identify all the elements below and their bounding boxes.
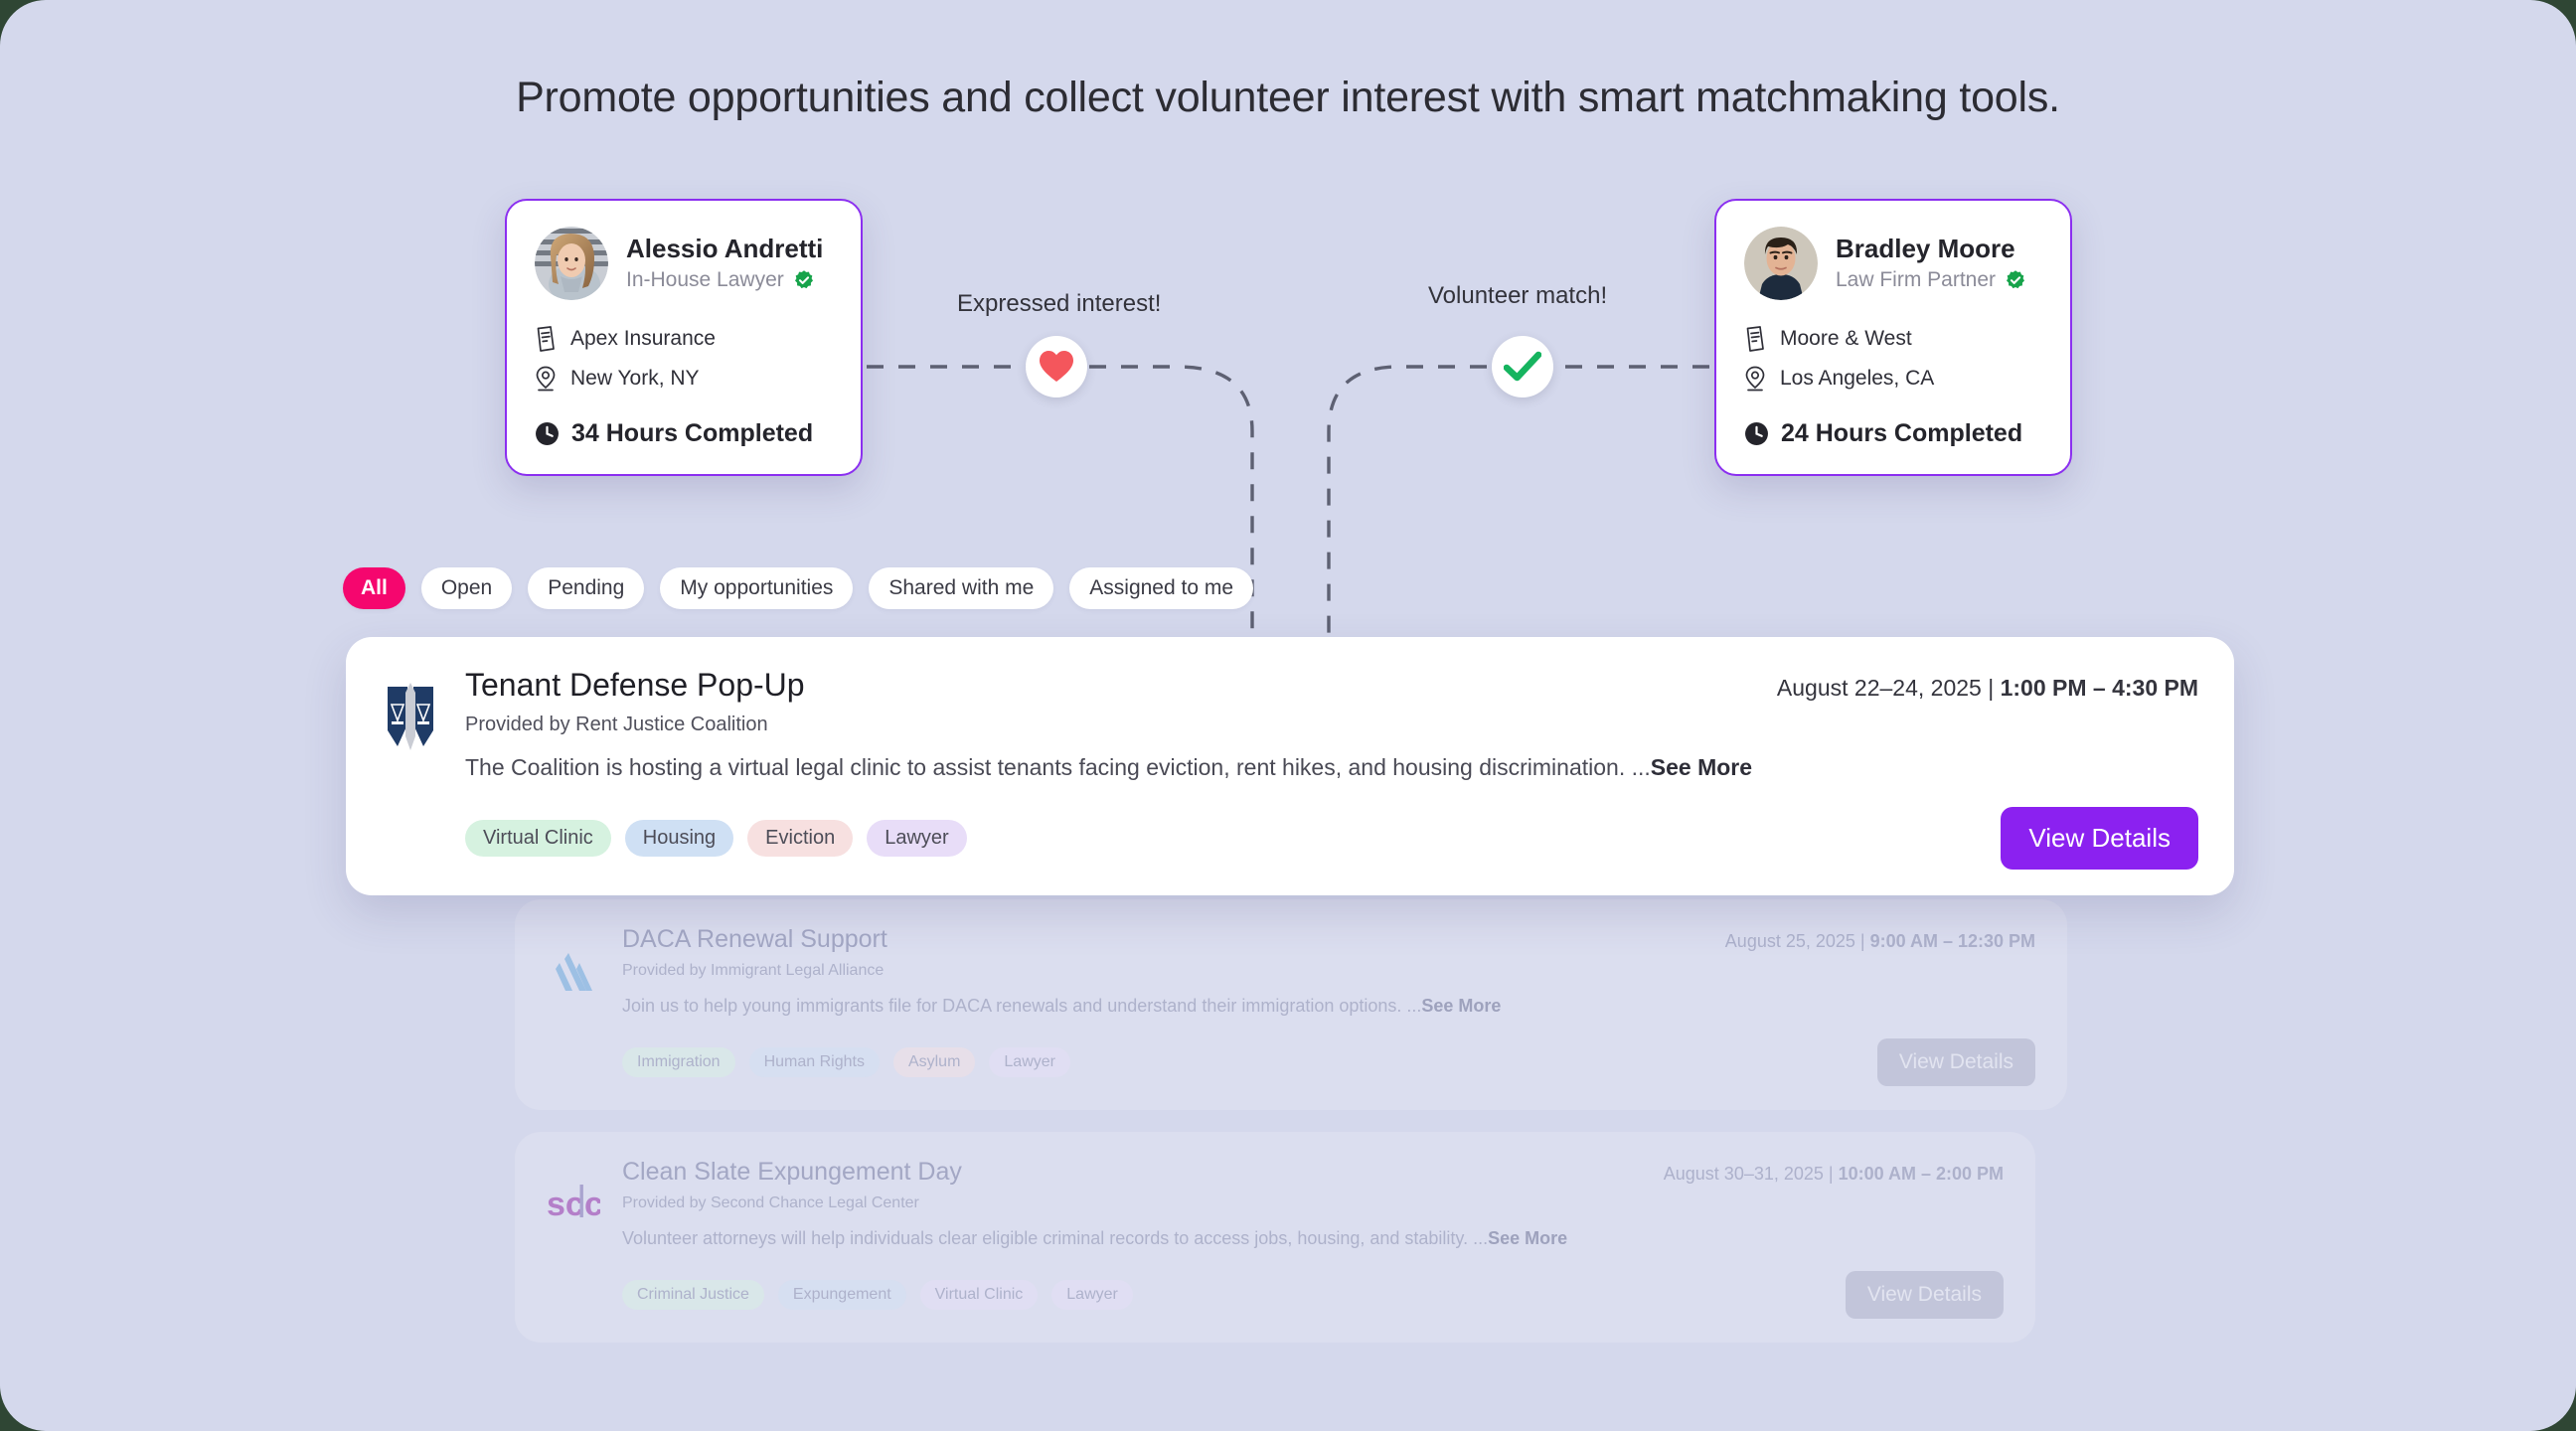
profile-organization: Apex Insurance	[570, 327, 716, 351]
location-pin-icon	[535, 366, 557, 392]
clock-icon	[1744, 421, 1769, 446]
profile-location-row: New York, NY	[535, 366, 833, 392]
profile-location-row: Los Angeles, CA	[1744, 366, 2042, 392]
tag[interactable]: Virtual Clinic	[920, 1280, 1039, 1310]
tag-list: Criminal Justice Expungement Virtual Cli…	[622, 1280, 1133, 1310]
opportunity-datetime: August 25, 2025 | 9:00 AM – 12:30 PM	[1725, 931, 2035, 952]
document-icon	[535, 326, 557, 352]
profile-header: Alessio Andretti In-House Lawyer	[535, 227, 833, 300]
filter-chip-pending[interactable]: Pending	[528, 567, 644, 609]
filter-chip-shared-with-me[interactable]: Shared with me	[869, 567, 1053, 609]
view-details-button[interactable]: View Details	[1877, 1038, 2035, 1086]
opportunity-time: 1:00 PM – 4:30 PM	[2001, 675, 2198, 701]
triangle-a-monogram-logo	[547, 943, 600, 1001]
check-icon	[1504, 351, 1541, 383]
verified-badge-icon	[2005, 269, 2026, 291]
profile-card-bradley-moore[interactable]: Bradley Moore Law Firm Partner Moore & W…	[1714, 199, 2072, 476]
profile-organization-row: Moore & West	[1744, 326, 2042, 352]
profile-hours: 24 Hours Completed	[1781, 419, 2022, 448]
opportunity-title: DACA Renewal Support	[622, 925, 887, 954]
opportunity-date: August 25, 2025 |	[1725, 931, 1870, 951]
filter-chip-row: All Open Pending My opportunities Shared…	[343, 567, 1253, 609]
profile-name: Alessio Andretti	[626, 235, 823, 264]
opportunity-provider: Provided by Immigrant Legal Alliance	[622, 962, 2035, 980]
opportunity-description: Join us to help young immigrants file fo…	[622, 996, 2035, 1017]
view-details-button[interactable]: View Details	[1846, 1271, 2004, 1319]
filter-chip-open[interactable]: Open	[421, 567, 512, 609]
filter-chip-my-opportunities[interactable]: My opportunities	[660, 567, 853, 609]
tag[interactable]: Lawyer	[1051, 1280, 1133, 1310]
avatar	[535, 227, 608, 300]
see-more-link[interactable]: See More	[1488, 1228, 1567, 1248]
profile-location: New York, NY	[570, 367, 700, 391]
tag[interactable]: Expungement	[778, 1280, 906, 1310]
verified-badge-icon	[793, 269, 815, 291]
tag[interactable]: Lawyer	[867, 820, 966, 857]
see-more-link[interactable]: See More	[1421, 996, 1501, 1016]
flow-label-expressed-interest: Expressed interest!	[957, 290, 1161, 318]
see-more-link[interactable]: See More	[1651, 754, 1752, 780]
profile-identity: Alessio Andretti In-House Lawyer	[626, 235, 823, 293]
filter-chip-assigned-to-me[interactable]: Assigned to me	[1069, 567, 1253, 609]
profile-role: Law Firm Partner	[1836, 268, 1996, 292]
profile-hours-row: 34 Hours Completed	[535, 419, 833, 448]
opportunity-provider: Provided by Second Chance Legal Center	[622, 1194, 2004, 1212]
profile-organization: Moore & West	[1780, 327, 1912, 351]
opportunity-time: 9:00 AM – 12:30 PM	[1870, 931, 2035, 951]
sclc-wordmark-logo: sc c	[547, 1176, 600, 1233]
profile-hours-row: 24 Hours Completed	[1744, 419, 2042, 448]
profile-card-alessio-andretti[interactable]: Alessio Andretti In-House Lawyer Apex In…	[505, 199, 863, 476]
flow-label-volunteer-match: Volunteer match!	[1428, 282, 1607, 310]
opportunity-card-tenant-defense-pop-up[interactable]: Tenant Defense Pop-Up August 22–24, 2025…	[346, 637, 2234, 895]
page-title: Promote opportunities and collect volunt…	[0, 74, 2576, 122]
view-details-button[interactable]: View Details	[2001, 807, 2198, 870]
opportunity-date: August 30–31, 2025 |	[1664, 1164, 1839, 1184]
svg-text:c: c	[584, 1186, 600, 1223]
tag[interactable]: Asylum	[893, 1047, 975, 1077]
avatar	[1744, 227, 1818, 300]
tag[interactable]: Eviction	[747, 820, 853, 857]
profile-hours: 34 Hours Completed	[571, 419, 813, 448]
expressed-interest-badge	[1026, 336, 1087, 397]
location-pin-icon	[1744, 366, 1766, 392]
tag[interactable]: Human Rights	[749, 1047, 880, 1077]
opportunity-datetime: August 30–31, 2025 | 10:00 AM – 2:00 PM	[1664, 1164, 2004, 1185]
profile-header: Bradley Moore Law Firm Partner	[1744, 227, 2042, 300]
clock-icon	[535, 421, 560, 446]
opportunity-title: Clean Slate Expungement Day	[622, 1158, 962, 1187]
page-root: Promote opportunities and collect volunt…	[0, 0, 2576, 1431]
opportunity-description: The Coalition is hosting a virtual legal…	[465, 754, 2198, 781]
volunteer-match-badge	[1492, 336, 1553, 397]
heart-icon	[1039, 350, 1074, 384]
filter-chip-all[interactable]: All	[343, 567, 405, 609]
profile-meta: Apex Insurance New York, NY	[535, 326, 833, 392]
opportunity-provider: Provided by Rent Justice Coalition	[465, 714, 2198, 736]
tag[interactable]: Immigration	[622, 1047, 735, 1077]
profile-name: Bradley Moore	[1836, 235, 2026, 264]
tag[interactable]: Virtual Clinic	[465, 820, 611, 857]
profile-organization-row: Apex Insurance	[535, 326, 833, 352]
tag[interactable]: Criminal Justice	[622, 1280, 764, 1310]
opportunity-datetime: August 22–24, 2025 | 1:00 PM – 4:30 PM	[1777, 675, 2198, 702]
opportunity-description: Volunteer attorneys will help individual…	[622, 1228, 2004, 1249]
tag[interactable]: Housing	[625, 820, 733, 857]
opportunity-date: August 22–24, 2025 |	[1777, 675, 2001, 701]
profile-location: Los Angeles, CA	[1780, 367, 1934, 391]
tag-list: Immigration Human Rights Asylum Lawyer	[622, 1047, 1070, 1077]
scales-of-justice-logo	[382, 681, 439, 752]
tag-list: Virtual Clinic Housing Eviction Lawyer	[465, 820, 967, 857]
profile-role: In-House Lawyer	[626, 268, 784, 292]
opportunity-card-daca-renewal-support[interactable]: DACA Renewal Support August 25, 2025 | 9…	[515, 899, 2067, 1110]
opportunity-card-clean-slate-expungement-day[interactable]: sc c Clean Slate Expungement Day August …	[515, 1132, 2035, 1343]
svg-text:sc: sc	[547, 1186, 584, 1223]
document-icon	[1744, 326, 1766, 352]
tag[interactable]: Lawyer	[989, 1047, 1070, 1077]
profile-meta: Moore & West Los Angeles, CA	[1744, 326, 2042, 392]
profile-identity: Bradley Moore Law Firm Partner	[1836, 235, 2026, 293]
opportunity-title: Tenant Defense Pop-Up	[465, 667, 805, 704]
opportunity-time: 10:00 AM – 2:00 PM	[1839, 1164, 2004, 1184]
